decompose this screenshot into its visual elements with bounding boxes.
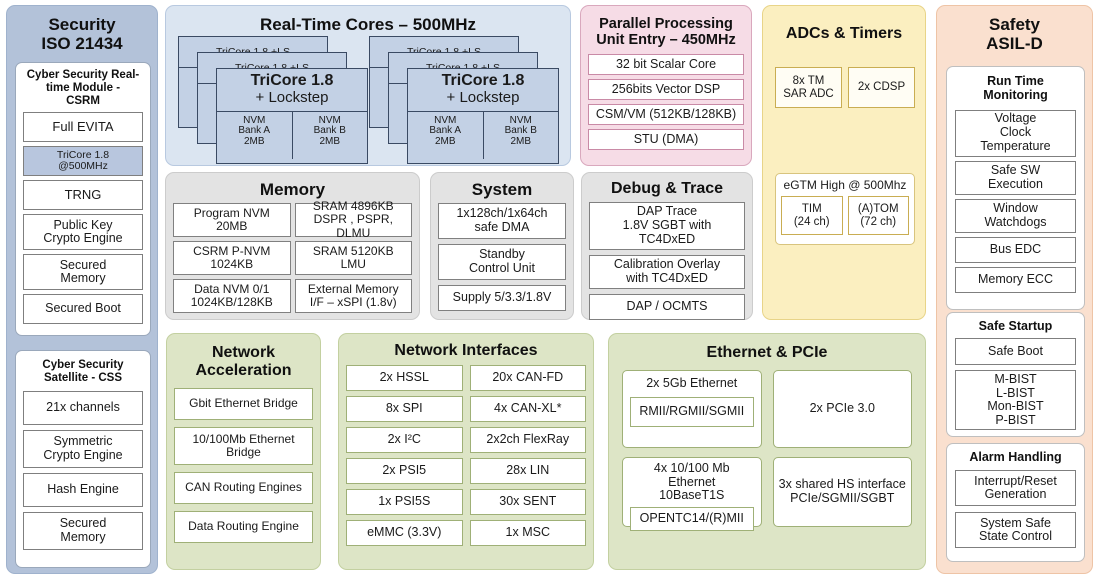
panel-network-interfaces: Network Interfaces 2x HSSL 20x CAN-FD 8x…	[338, 333, 594, 570]
ethpcie-item-5gb-ethernet[interactable]: 2x 5Gb Ethernet RMII/RGMII/SGMII	[622, 370, 762, 448]
netif-item-flexray[interactable]: 2x2ch FlexRay	[470, 427, 587, 453]
core-cluster-left: TriCore 1.8 +LS NVM Bank 1M NVM Bank 1M …	[178, 36, 368, 161]
netif-item-psi5s[interactable]: 1x PSI5S	[346, 489, 463, 515]
netaccel-item-10-100mb-bridge[interactable]: 10/100Mb Ethernet Bridge	[174, 427, 313, 465]
csrm-item-public-key-crypto[interactable]: Public Key Crypto Engine	[23, 214, 143, 250]
csrm-pk-l2: Crypto Engine	[43, 232, 122, 246]
core-front-header-l2: + Lockstep	[217, 90, 367, 106]
panel-system: System 1x128ch/1x64chsafe DMA StandbyCon…	[430, 172, 574, 320]
csrm-item-secured-memory[interactable]: Secured Memory	[23, 254, 143, 290]
panel-ethernet-pcie: Ethernet & PCIe 2x 5Gb Ethernet RMII/RGM…	[608, 333, 926, 570]
netif-item-i2c[interactable]: 2x I²C	[346, 427, 463, 453]
group-csrm: Cyber Security Real- time Module - CSRM …	[15, 62, 151, 336]
core-front-2-banks: NVM Bank A 2MB NVM Bank B 2MB	[408, 111, 558, 159]
alarm-item-system-safe-state[interactable]: System Safe State Control	[955, 512, 1076, 548]
css-item-hash-engine[interactable]: Hash Engine	[23, 473, 143, 507]
css-sm-l1: Secured	[60, 517, 107, 531]
ethpcie-5gb-sub[interactable]: RMII/RGMII/SGMII	[630, 397, 754, 427]
safe-startup-item-safe-boot[interactable]: Safe Boot	[955, 338, 1076, 365]
core-front-2-header-l1: TriCore 1.8	[408, 73, 558, 90]
memory-item-data-nvm[interactable]: Data NVM 0/11024KB/128KB	[173, 279, 291, 313]
adc-title: ADCs & Timers	[770, 25, 918, 43]
css-sm-l2: Memory	[60, 531, 105, 545]
safety-title-l2: ASIL-D	[944, 34, 1085, 53]
netif-item-lin[interactable]: 28x LIN	[470, 458, 587, 484]
csrm-item-full-evita[interactable]: Full EVITA	[23, 112, 143, 142]
security-title-line2: ISO 21434	[14, 34, 150, 53]
ethpcie-item-pcie[interactable]: 2x PCIe 3.0	[773, 370, 913, 448]
adc-egtm-group: eGTM High @ 500Mhz TIM (24 ch) (A)TOM (7…	[775, 173, 915, 245]
adc-item-sar-adc[interactable]: 8x TM SAR ADC	[775, 67, 842, 108]
core-front-header: TriCore 1.8 + Lockstep	[217, 69, 367, 111]
css-item-secured-memory[interactable]: Secured Memory	[23, 512, 143, 550]
panel-ppu: Parallel Processing Unit Entry – 450MHz …	[580, 5, 752, 166]
block-diagram-root: Security ISO 21434 Cyber Security Real- …	[0, 0, 1099, 579]
core-front-2-header: TriCore 1.8 + Lockstep	[408, 69, 558, 111]
memory-title: Memory	[173, 180, 412, 199]
system-item-dma[interactable]: 1x128ch/1x64chsafe DMA	[438, 203, 566, 239]
csrm-item-secured-boot[interactable]: Secured Boot	[23, 294, 143, 324]
debug-item-calibration-overlay[interactable]: Calibration Overlay with TC4DxED	[589, 255, 745, 289]
runtime-item-memory-ecc[interactable]: Memory ECC	[955, 267, 1076, 293]
group-runtime-monitoring: Run Time Monitoring Voltage Clock Temper…	[946, 66, 1085, 310]
ethpcie-10100-title: 4x 10/100 Mb Ethernet 10BaseT1S	[630, 462, 754, 503]
core-cluster-right: TriCore 1.8 +LS NVM Bank 1M NVM Bank 1M …	[369, 36, 559, 161]
memory-item-sram-4896[interactable]: SRAM 4896KBDSPR , PSPR, DLMU	[295, 203, 413, 237]
css-title: Cyber Security Satellite - CSS	[23, 359, 143, 385]
ppu-title-l1: Parallel Processing	[588, 16, 744, 32]
security-title-line1: Security	[14, 15, 150, 34]
adc-item-cdsp[interactable]: 2x CDSP	[848, 67, 915, 108]
security-title: Security ISO 21434	[14, 15, 150, 53]
core-front-2-bank-b: NVM Bank B 2MB	[483, 111, 559, 159]
ethpcie-item-10-100-ethernet[interactable]: 4x 10/100 Mb Ethernet 10BaseT1S OPENTC14…	[622, 457, 762, 527]
safety-title-l1: Safety	[944, 15, 1085, 34]
ethpcie-grid: 2x 5Gb Ethernet RMII/RGMII/SGMII 2x PCIe…	[616, 370, 918, 527]
panel-memory: Memory Program NVM20MB SRAM 4896KBDSPR ,…	[165, 172, 420, 320]
netif-item-hssl[interactable]: 2x HSSL	[346, 365, 463, 391]
css-sym-l2: Crypto Engine	[43, 449, 122, 463]
netif-item-msc[interactable]: 1x MSC	[470, 520, 587, 546]
adc-egtm-item-atom[interactable]: (A)TOM (72 ch)	[848, 196, 910, 235]
runtime-item-voltage-clock-temp[interactable]: Voltage Clock Temperature	[955, 110, 1076, 157]
ppu-item-stu-dma[interactable]: STU (DMA)	[588, 129, 744, 150]
memory-item-csrm-pnvm[interactable]: CSRM P-NVM1024KB	[173, 241, 291, 275]
ppu-title: Parallel Processing Unit Entry – 450MHz	[588, 16, 744, 48]
csrm-title-l1: Cyber Security Real-	[23, 69, 143, 82]
core-card-front-2: TriCore 1.8 + Lockstep NVM Bank A 2MB NV…	[407, 68, 559, 164]
csrm-title-l2: time Module -	[23, 82, 143, 95]
debug-item-dap-trace[interactable]: DAP Trace 1.8V SGBT with TC4DxED	[589, 202, 745, 250]
panel-network-acceleration: Network Acceleration Gbit Ethernet Bridg…	[166, 333, 321, 570]
safe-startup-item-bist[interactable]: M-BIST L-BIST Mon-BIST P-BIST	[955, 370, 1076, 430]
csrm-tricore-l2: @500MHz	[58, 161, 108, 173]
ethpcie-5gb-title: 2x 5Gb Ethernet	[630, 376, 754, 390]
panel-safety: Safety ASIL-D Run Time Monitoring Voltag…	[936, 5, 1093, 574]
core-front-2-bank-a: NVM Bank A 2MB	[408, 111, 483, 159]
netif-item-can-fd[interactable]: 20x CAN-FD	[470, 365, 587, 391]
css-sym-l1: Symmetric	[53, 435, 112, 449]
panel-adc-timers: ADCs & Timers 8x TM SAR ADC 2x CDSP eGTM…	[762, 5, 926, 320]
csrm-title-l3: CSRM	[23, 95, 143, 108]
csrm-pk-l1: Public Key	[53, 219, 112, 233]
csrm-item-trng[interactable]: TRNG	[23, 180, 143, 210]
netif-item-sent[interactable]: 30x SENT	[470, 489, 587, 515]
system-item-supply[interactable]: Supply 5/3.3/1.8V	[438, 285, 566, 311]
css-title-l2: Satellite - CSS	[23, 372, 143, 385]
core-card-front: TriCore 1.8 + Lockstep NVM Bank A 2MB NV…	[216, 68, 368, 164]
adc-egtm-title: eGTM High @ 500Mhz	[781, 178, 909, 192]
netif-item-psi5[interactable]: 2x PSI5	[346, 458, 463, 484]
netaccel-item-can-routing-engines[interactable]: CAN Routing Engines	[174, 472, 313, 504]
ppu-item-scalar-core[interactable]: 32 bit Scalar Core	[588, 54, 744, 75]
netif-item-spi[interactable]: 8x SPI	[346, 396, 463, 422]
debug-item-dap-ocmts[interactable]: DAP / OCMTS	[589, 294, 745, 320]
memory-item-sram-5120[interactable]: SRAM 5120KBLMU	[295, 241, 413, 275]
netif-item-can-xl[interactable]: 4x CAN-XL*	[470, 396, 587, 422]
ethpcie-10100-sub[interactable]: OPENTC14/(R)MII	[630, 507, 754, 531]
core-front-banks: NVM Bank A 2MB NVM Bank B 2MB	[217, 111, 367, 159]
group-css: Cyber Security Satellite - CSS 21x chann…	[15, 350, 151, 568]
runtime-item-window-watchdogs[interactable]: Window Watchdogs	[955, 199, 1076, 233]
csrm-item-tricore[interactable]: TriCore 1.8 @500MHz	[23, 146, 143, 176]
panel-debug-trace: Debug & Trace DAP Trace 1.8V SGBT with T…	[581, 172, 753, 320]
panel-security: Security ISO 21434 Cyber Security Real- …	[6, 5, 158, 574]
system-title: System	[438, 180, 566, 199]
ethpcie-title: Ethernet & PCIe	[616, 344, 918, 362]
ppu-title-l2: Unit Entry – 450MHz	[588, 32, 744, 48]
css-item-channels[interactable]: 21x channels	[23, 391, 143, 425]
netif-item-emmc[interactable]: eMMC (3.3V)	[346, 520, 463, 546]
system-item-standby-control[interactable]: StandbyControl Unit	[438, 244, 566, 280]
runtime-title: Run Time Monitoring	[955, 74, 1076, 103]
safety-title: Safety ASIL-D	[944, 15, 1085, 53]
adc-egtm-row: TIM (24 ch) (A)TOM (72 ch)	[781, 196, 909, 235]
runtime-item-safe-sw-execution[interactable]: Safe SW Execution	[955, 161, 1076, 195]
css-item-symmetric-crypto[interactable]: Symmetric Crypto Engine	[23, 430, 143, 468]
csrm-title: Cyber Security Real- time Module - CSRM	[23, 69, 143, 108]
adc-top-row: 8x TM SAR ADC 2x CDSP	[775, 67, 915, 108]
alarm-title: Alarm Handling	[955, 450, 1076, 464]
debug-title: Debug & Trace	[589, 180, 745, 198]
ppu-item-vector-dsp[interactable]: 256bits Vector DSP	[588, 79, 744, 100]
group-safe-startup: Safe Startup Safe Boot M-BIST L-BIST Mon…	[946, 312, 1085, 437]
netaccel-item-data-routing-engine[interactable]: Data Routing Engine	[174, 511, 313, 543]
group-alarm-handling: Alarm Handling Interrupt/Reset Generatio…	[946, 443, 1085, 562]
safe-startup-title: Safe Startup	[955, 319, 1076, 333]
csrm-sm-l1: Secured	[60, 259, 107, 273]
runtime-item-bus-edc[interactable]: Bus EDC	[955, 237, 1076, 263]
ethpcie-item-shared-hs[interactable]: 3x shared HS interface PCIe/SGMII/SGBT	[773, 457, 913, 527]
panel-realtime-cores: Real-Time Cores – 500MHz TriCore 1.8 +LS…	[165, 5, 571, 166]
netaccel-title-l2: Acceleration	[174, 362, 313, 380]
memory-item-external-memory[interactable]: External MemoryI/F – xSPI (1.8v)	[295, 279, 413, 313]
memory-grid: Program NVM20MB SRAM 4896KBDSPR , PSPR, …	[173, 203, 412, 313]
realtime-title: Real-Time Cores – 500MHz	[173, 15, 563, 34]
css-title-l1: Cyber Security	[23, 359, 143, 372]
netaccel-item-gbit-ethernet-bridge[interactable]: Gbit Ethernet Bridge	[174, 388, 313, 420]
netif-grid: 2x HSSL 20x CAN-FD 8x SPI 4x CAN-XL* 2x …	[346, 365, 586, 546]
core-front-2-header-l2: + Lockstep	[408, 90, 558, 106]
ppu-item-csm-vm[interactable]: CSM/VM (512KB/128KB)	[588, 104, 744, 125]
alarm-item-interrupt-reset[interactable]: Interrupt/Reset Generation	[955, 470, 1076, 506]
netaccel-title: Network Acceleration	[174, 344, 313, 380]
netaccel-title-l1: Network	[174, 344, 313, 362]
core-front-bank-b: NVM Bank B 2MB	[292, 111, 368, 159]
adc-egtm-item-tim[interactable]: TIM (24 ch)	[781, 196, 843, 235]
core-front-bank-a: NVM Bank A 2MB	[217, 111, 292, 159]
netif-title: Network Interfaces	[346, 342, 586, 360]
csrm-sm-l2: Memory	[60, 272, 105, 286]
core-front-header-l1: TriCore 1.8	[217, 73, 367, 90]
memory-item-program-nvm[interactable]: Program NVM20MB	[173, 203, 291, 237]
